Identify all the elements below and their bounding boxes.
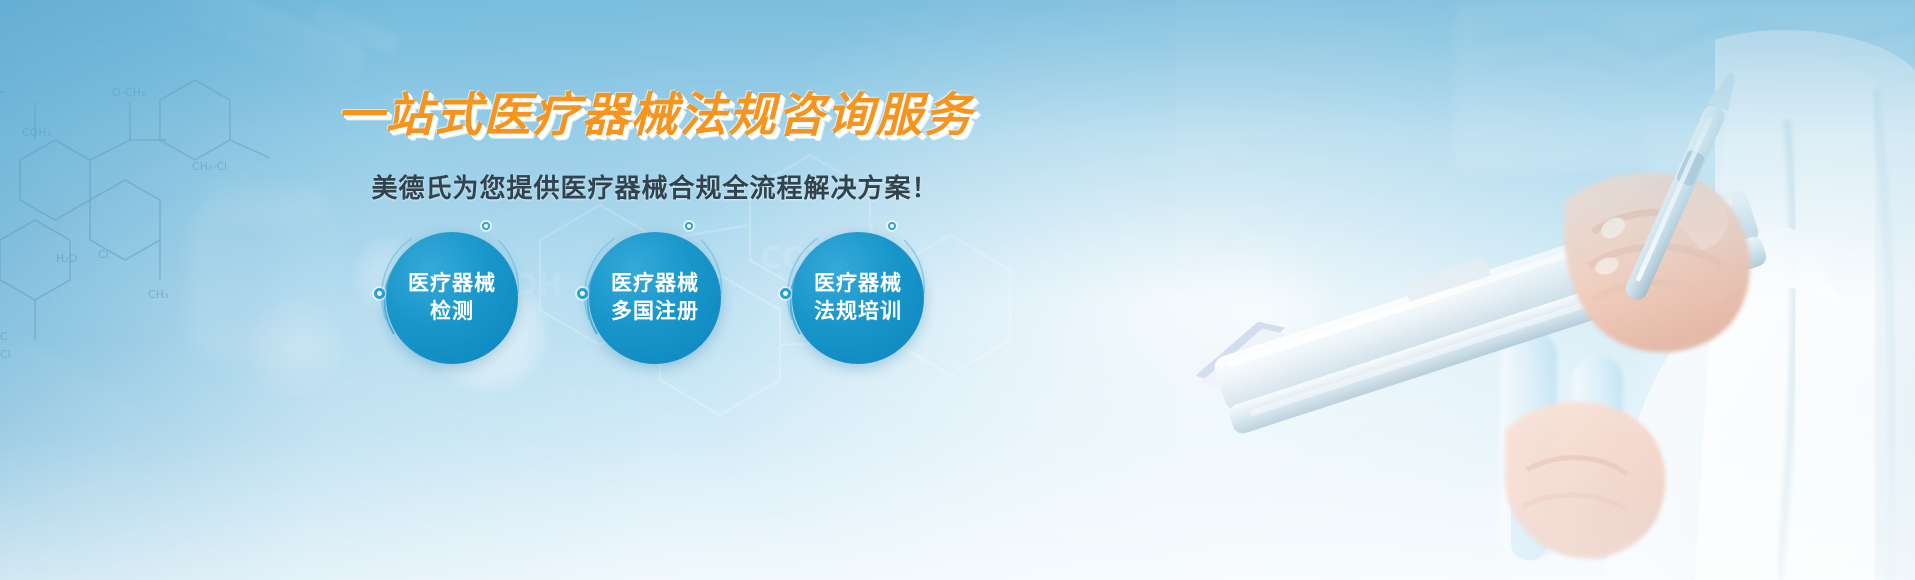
service-circle-line1: 医疗器械 xyxy=(408,270,496,298)
circle-node-dot xyxy=(685,222,693,230)
service-circle-item[interactable]: 医疗器械 多国注册 xyxy=(581,224,729,372)
circle-node-dot xyxy=(374,288,385,299)
page-title: 一站式医疗器械法规咨询服务 xyxy=(337,90,974,139)
service-circle-item[interactable]: 医疗器械 检测 xyxy=(378,224,526,372)
circle-node-dot xyxy=(577,288,588,299)
circle-node-dot xyxy=(888,222,896,230)
service-circle-line2: 多国注册 xyxy=(611,298,699,326)
service-circle-registration[interactable]: 医疗器械 多国注册 xyxy=(589,232,721,364)
headline-container: 一站式医疗器械法规咨询服务 xyxy=(0,90,1310,139)
service-circle-line2: 检测 xyxy=(430,298,474,326)
hero-banner: – Cl O-CH₃ COH₃ CH₃-Cl H₂O Cl C Cl CH₃ C… xyxy=(0,0,1915,580)
service-circle-list: 医疗器械 检测 医疗器械 多国注册 xyxy=(0,224,1310,372)
subheadline-container: 美德氏为您提供医疗器械合规全流程解决方案！ xyxy=(0,168,1310,205)
service-circle-training[interactable]: 医疗器械 法规培训 xyxy=(792,232,924,364)
service-circle-line1: 医疗器械 xyxy=(611,270,699,298)
page-subtitle: 美德氏为您提供医疗器械合规全流程解决方案！ xyxy=(371,168,938,205)
service-circle-line2: 法规培训 xyxy=(814,298,902,326)
service-circle-item[interactable]: 医疗器械 法规培训 xyxy=(784,224,932,372)
circle-node-dot xyxy=(780,288,791,299)
service-circle-detection[interactable]: 医疗器械 检测 xyxy=(386,232,518,364)
circle-node-dot xyxy=(482,222,490,230)
bottom-light-overlay xyxy=(0,340,1915,580)
service-circle-line1: 医疗器械 xyxy=(814,270,902,298)
